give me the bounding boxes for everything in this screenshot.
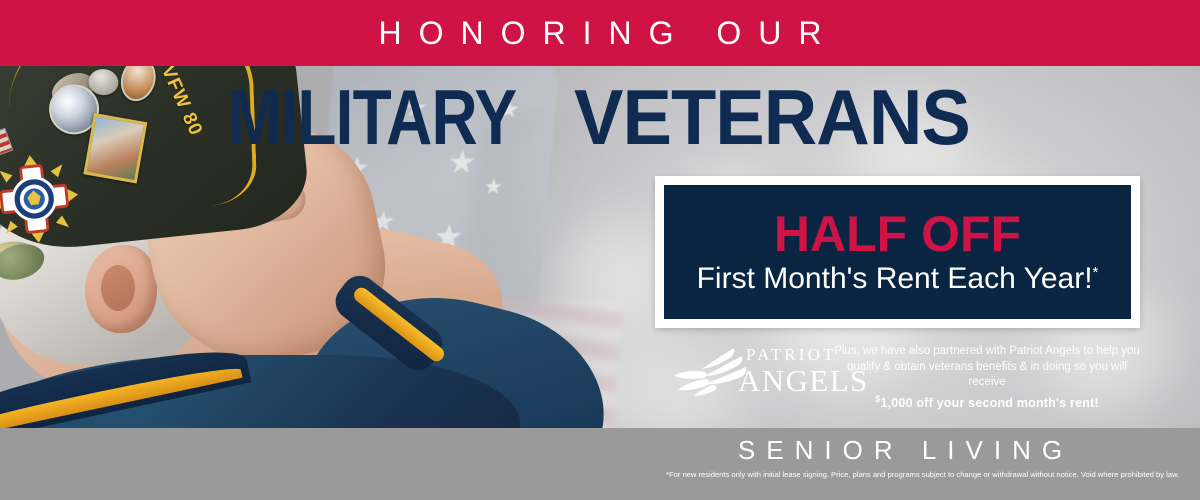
logo-text-angels: ANGELS bbox=[738, 365, 869, 396]
honoring-our-text: HONORING OUR bbox=[362, 15, 839, 52]
offer-asterisk: * bbox=[1093, 264, 1099, 281]
offer-subhead-text: First Month's Rent Each Year! bbox=[697, 262, 1093, 295]
partner-copy-text: Plus, we have also partnered with Patrio… bbox=[834, 345, 1140, 388]
disclaimer-text: *For new residents only with initial lea… bbox=[666, 469, 1186, 481]
headline-word-veterans: VETERANS bbox=[574, 78, 970, 156]
cap-pin-photo bbox=[83, 113, 147, 183]
offer-callout-box: HALF OFF First Month's Rent Each Year!* bbox=[655, 176, 1140, 328]
partner-section: PATRIOT ANGELS Plus, we have also partne… bbox=[672, 340, 1142, 418]
senior-living-tagline: SENIOR LIVING bbox=[600, 432, 1200, 468]
veterans-promo-banner: ★ ★ ★ ★ ★ ★ ★ ★ ★ VFW 80 bbox=[0, 0, 1200, 500]
honoring-our-bar: HONORING OUR bbox=[0, 0, 1200, 66]
partner-offer-text: 1,000 off your second month's rent! bbox=[880, 396, 1098, 410]
vfw-emblem bbox=[0, 146, 87, 252]
offer-subhead: First Month's Rent Each Year!* bbox=[697, 263, 1099, 295]
partner-copy: Plus, we have also partnered with Patrio… bbox=[832, 340, 1142, 412]
page-title: MILITARYVETERANS bbox=[228, 78, 990, 156]
headline-word-military: MILITARY bbox=[228, 78, 516, 156]
partner-offer-line: $1,000 off your second month's rent! bbox=[832, 393, 1142, 412]
offer-headline: HALF OFF bbox=[774, 209, 1021, 259]
patriot-angels-logo: PATRIOT ANGELS bbox=[672, 340, 832, 406]
logo-text-patriot: PATRIOT bbox=[738, 346, 869, 363]
